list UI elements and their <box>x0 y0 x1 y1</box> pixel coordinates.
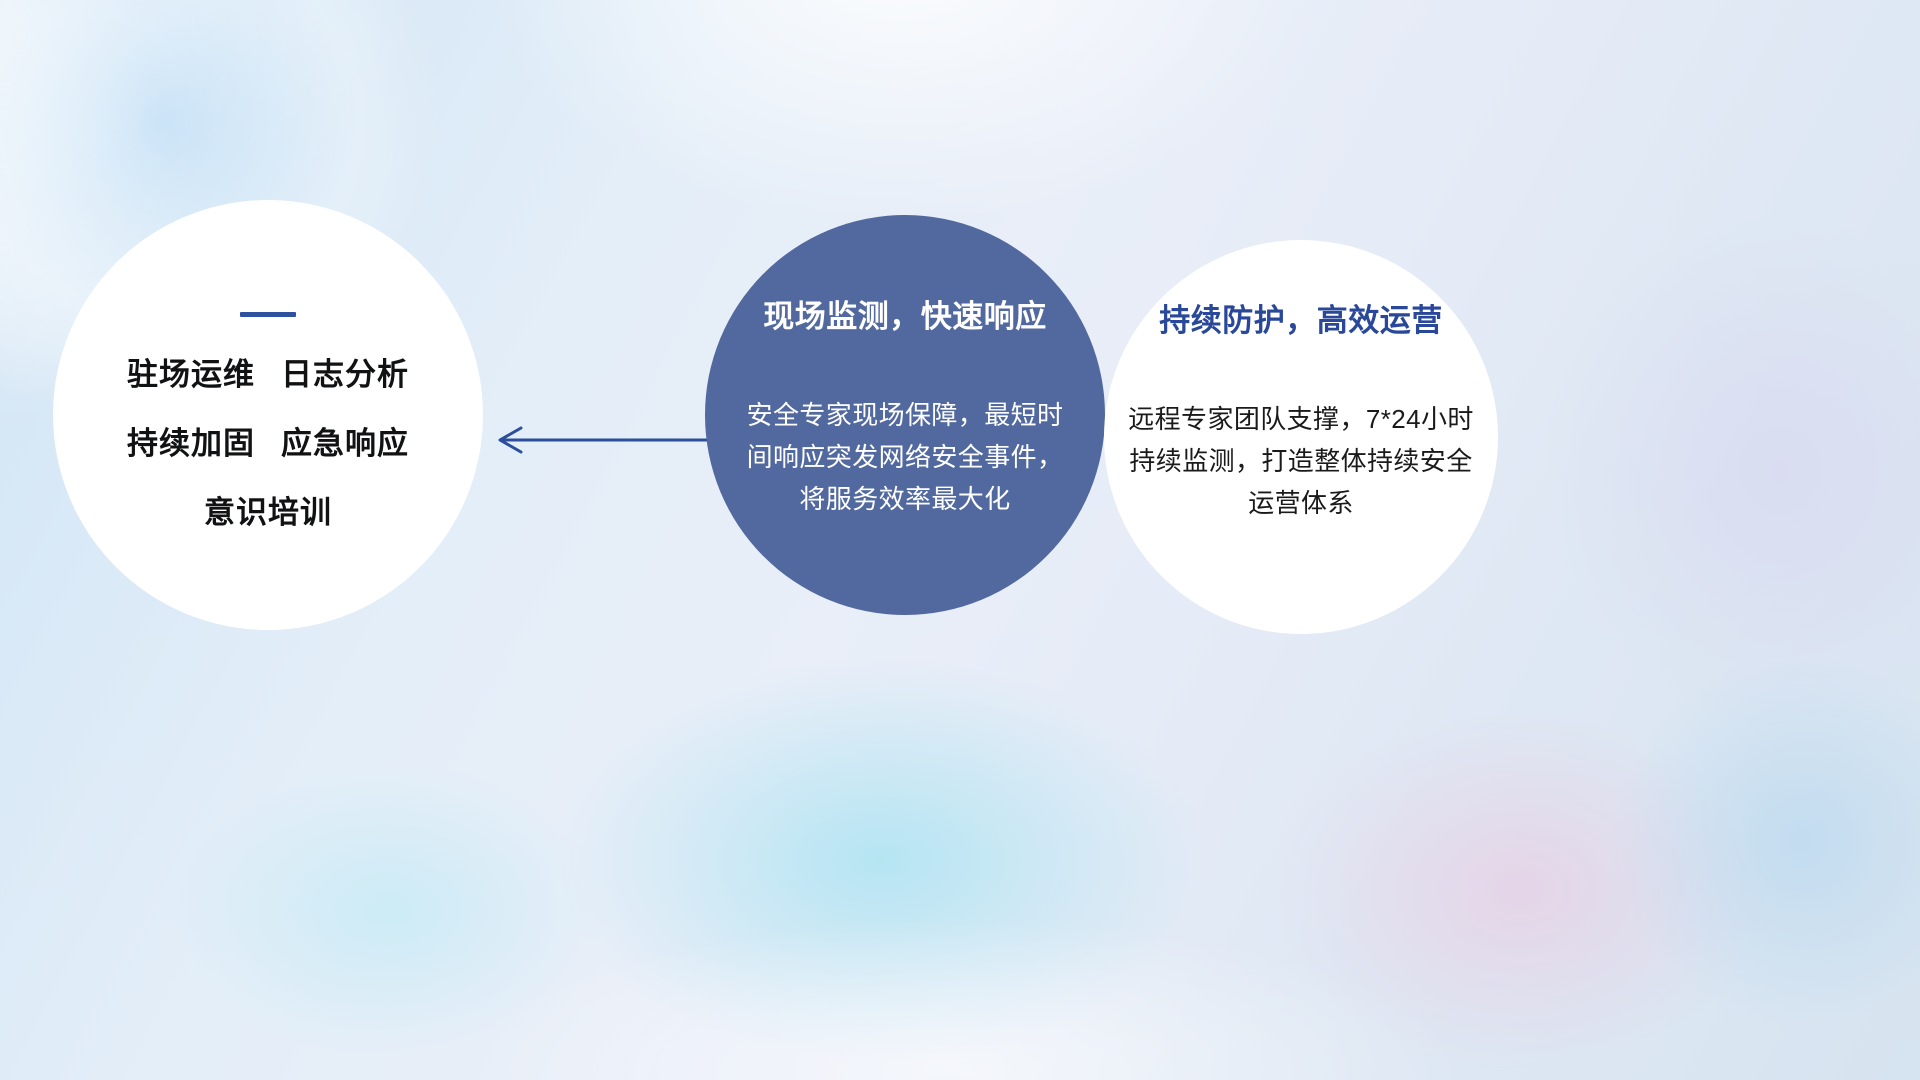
capability-row-1: 驻场运维日志分析 <box>127 359 409 390</box>
onsite-monitoring-circle: 现场监测，快速响应 安全专家现场保障，最短时间响应突发网络安全事件，将服务效率最… <box>705 215 1105 615</box>
capability-item: 日志分析 <box>281 357 409 392</box>
capability-item: 持续加固 <box>127 426 255 461</box>
capability-item: 应急响应 <box>281 426 409 461</box>
capability-row-3: 意识培训 <box>204 497 332 528</box>
continuous-protection-title: 持续防护，高效运营 <box>1159 295 1443 340</box>
capabilities-circle: 驻场运维日志分析 持续加固应急响应 意识培训 <box>53 200 483 630</box>
onsite-monitoring-title: 现场监测，快速响应 <box>763 291 1047 336</box>
divider-dash-icon <box>240 312 296 317</box>
continuous-protection-circle: 持续防护，高效运营 远程专家团队支撑，7*24小时持续监测，打造整体持续安全运营… <box>1104 240 1498 634</box>
continuous-protection-body: 远程专家团队支撑，7*24小时持续监测，打造整体持续安全运营体系 <box>1126 398 1476 524</box>
slide-canvas: 驻场运维日志分析 持续加固应急响应 意识培训 现场监测，快速响应 安全专家现场保… <box>0 0 1920 1080</box>
capability-item: 驻场运维 <box>127 357 255 392</box>
onsite-monitoring-body: 安全专家现场保障，最短时间响应突发网络安全事件，将服务效率最大化 <box>740 394 1070 520</box>
capability-row-2: 持续加固应急响应 <box>127 428 409 459</box>
capability-item: 意识培训 <box>204 495 332 530</box>
